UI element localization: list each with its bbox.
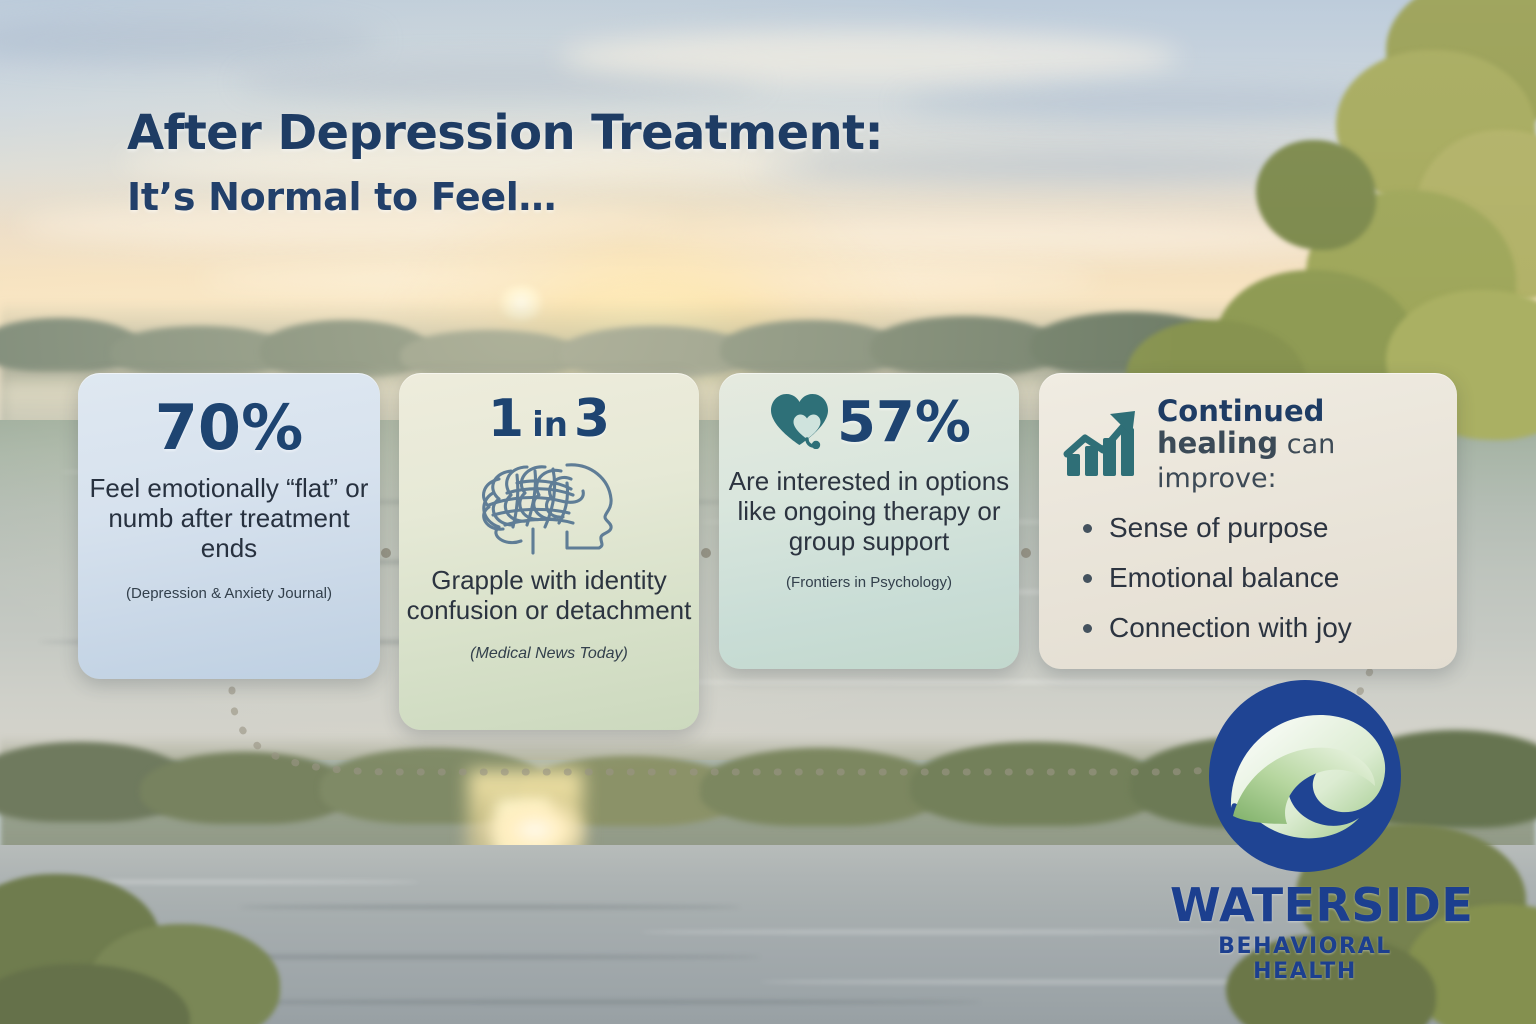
waterside-wave-logo-icon [1205,676,1405,876]
stat-card-3-header: 57% [719,391,1019,454]
heart-stethoscope-icon [767,391,831,454]
benefits-card-header: Continued healing can improve: [1039,373,1457,494]
brand-logo: WATERSIDE BEHAVIORAL HEALTH [1170,676,1440,984]
benefit-item: Sense of purpose [1083,512,1457,544]
tangled-brain-head-icon [399,449,699,557]
tree-tuft [400,330,580,378]
brand-tagline: BEHAVIORAL HEALTH [1170,934,1440,984]
stat-card-2-source: (Medical News Today) [399,645,699,663]
stat-card-3-value: 57% [837,395,971,451]
stat-card-2-body: Grapple with identity confusion or detac… [399,565,699,625]
stat-card-1-value: 70% [78,397,380,459]
left-foreground-foliage [0,814,530,1024]
growth-chart-icon [1063,406,1145,483]
headline-line-2: It’s Normal to Feel… [127,175,883,219]
headline-block: After Depression Treatment: It’s Normal … [127,105,883,219]
benefits-title-line-2: healing can improve: [1157,427,1457,493]
stat-card-2: 1in3 [399,373,699,730]
right-tree-canopy [1086,0,1536,420]
stat-card-2-value: 1in3 [399,393,699,445]
stat-card-2-connector: in [532,405,568,445]
benefit-item: Emotional balance [1083,562,1457,594]
stat-card-3-source: (Frontiers in Psychology) [719,574,1019,591]
stat-card-1: 70% Feel emotionally “flat” or numb afte… [78,373,380,679]
benefits-title-line-1: Continued [1157,395,1457,427]
stat-card-2-numerator: 1 [488,389,524,449]
stat-card-1-body: Feel emotionally “flat” or numb after tr… [78,473,380,563]
headline-line-1: After Depression Treatment: [127,105,883,161]
brand-name: WATERSIDE [1170,878,1440,932]
tree-tuft [700,748,940,826]
stat-card-3: 57% Are interested in options like ongoi… [719,373,1019,669]
benefits-card: Continued healing can improve: Sense of … [1039,373,1457,669]
benefits-card-title: Continued healing can improve: [1157,395,1457,494]
stat-card-3-body: Are interested in options like ongoing t… [719,466,1019,556]
benefits-list: Sense of purpose Emotional balance Conne… [1083,512,1457,644]
stat-card-1-source: (Depression & Anxiety Journal) [78,585,380,602]
benefits-title-emphasis: healing [1157,426,1278,460]
benefit-item: Connection with joy [1083,612,1457,644]
stat-card-2-denominator: 3 [574,389,610,449]
